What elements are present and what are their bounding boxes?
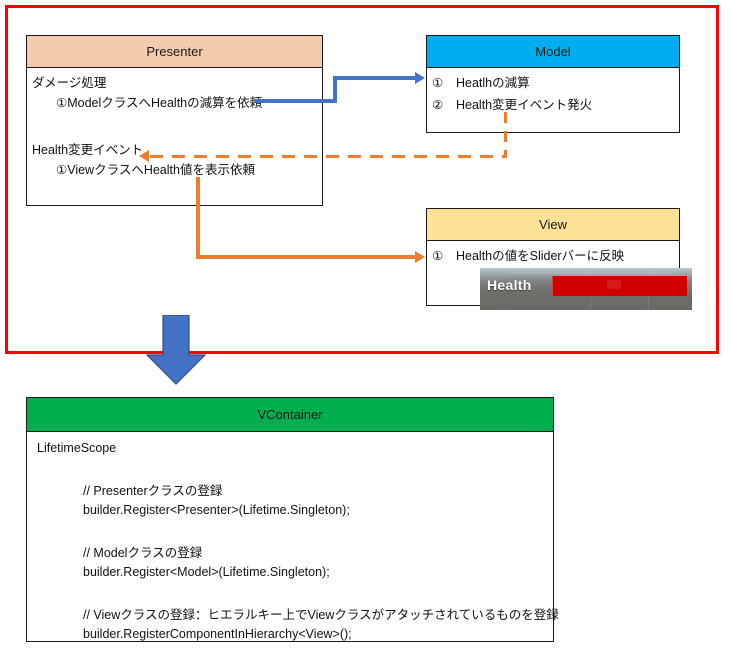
health-label: Health: [487, 277, 532, 293]
presenter-title: Presenter: [27, 36, 322, 68]
view-item-1: ① Healthの値をSliderバーに反映: [432, 245, 674, 267]
presenter-line-damage: ダメージ処理: [32, 73, 317, 93]
code-register-model: builder.Register<Model>(Lifetime.Singlet…: [37, 563, 543, 582]
model-item-2: ② Health変更イベント発火: [432, 94, 674, 116]
presenter-spacer: [32, 113, 317, 140]
presenter-body: ダメージ処理 ①ModelクラスへHealthの減算を依頼 Health変更イベ…: [27, 68, 322, 180]
model-item-1-number: ①: [432, 72, 448, 94]
model-item-2-number: ②: [432, 94, 448, 116]
code-comment-model: // Modelクラスの登録: [37, 544, 543, 563]
model-to-presenter-dashed-h: [150, 155, 507, 158]
model-item-1: ① Heatlhの減算: [432, 72, 674, 94]
model-item-2-label: Health変更イベント発火: [456, 94, 592, 116]
health-slider-screenshot: Health: [480, 268, 692, 310]
code-comment-view: // Viewクラスの登録：ヒエラルキー上でViewクラスがアタッチされているも…: [37, 606, 543, 625]
presenter-to-view-segment-h: [196, 255, 416, 259]
model-class-box[interactable]: Model ① Heatlhの減算 ② Health変更イベント発火: [426, 35, 680, 133]
diagram-canvas: Presenter ダメージ処理 ①ModelクラスへHealthの減算を依頼 …: [0, 0, 732, 651]
vcontainer-title: VContainer: [27, 398, 553, 432]
view-title: View: [427, 209, 679, 241]
view-item-1-number: ①: [432, 245, 448, 267]
presenter-to-model-segment-v: [333, 76, 337, 103]
presenter-class-box[interactable]: Presenter ダメージ処理 ①ModelクラスへHealthの減算を依頼 …: [26, 35, 323, 206]
view-item-1-label: Healthの値をSliderバーに反映: [456, 245, 624, 267]
model-item-1-label: Heatlhの減算: [456, 72, 530, 94]
vcontainer-box[interactable]: VContainer LifetimeScope // Presenterクラス…: [26, 397, 554, 642]
code-comment-presenter: // Presenterクラスの登録: [37, 482, 543, 501]
presenter-to-model-arrowhead-icon: [415, 72, 425, 84]
code-spacer: [37, 582, 543, 594]
presenter-to-model-segment-h1: [255, 99, 337, 103]
presenter-to-model-segment-h2: [333, 76, 415, 80]
presenter-line-request-view: ①ViewクラスへHealth値を表示依頼: [32, 160, 317, 180]
code-spacer: [37, 520, 543, 532]
code-spacer: [37, 470, 543, 482]
model-body: ① Heatlhの減算 ② Health変更イベント発火: [427, 68, 679, 116]
code-spacer: [37, 532, 543, 544]
code-register-view: builder.RegisterComponentInHierarchy<Vie…: [37, 625, 543, 644]
model-title: Model: [427, 36, 679, 68]
presenter-to-view-arrowhead-icon: [415, 251, 425, 263]
presenter-to-view-segment-v: [196, 177, 200, 259]
model-to-presenter-arrowhead-icon: [139, 150, 149, 162]
vcontainer-body: LifetimeScope // Presenterクラスの登録 builder…: [27, 432, 553, 651]
model-to-presenter-dashed-v: [504, 112, 507, 158]
presenter-line-request-model: ①ModelクラスへHealthの減算を依頼: [32, 93, 317, 113]
view-body: ① Healthの値をSliderバーに反映: [427, 241, 679, 267]
code-spacer: [37, 594, 543, 606]
flow-down-arrow-icon: [145, 315, 207, 385]
health-bar-fill[interactable]: [552, 276, 687, 296]
code-spacer: [37, 458, 543, 470]
lifetimescope-label: LifetimeScope: [37, 439, 543, 458]
code-register-presenter: builder.Register<Presenter>(Lifetime.Sin…: [37, 501, 543, 520]
